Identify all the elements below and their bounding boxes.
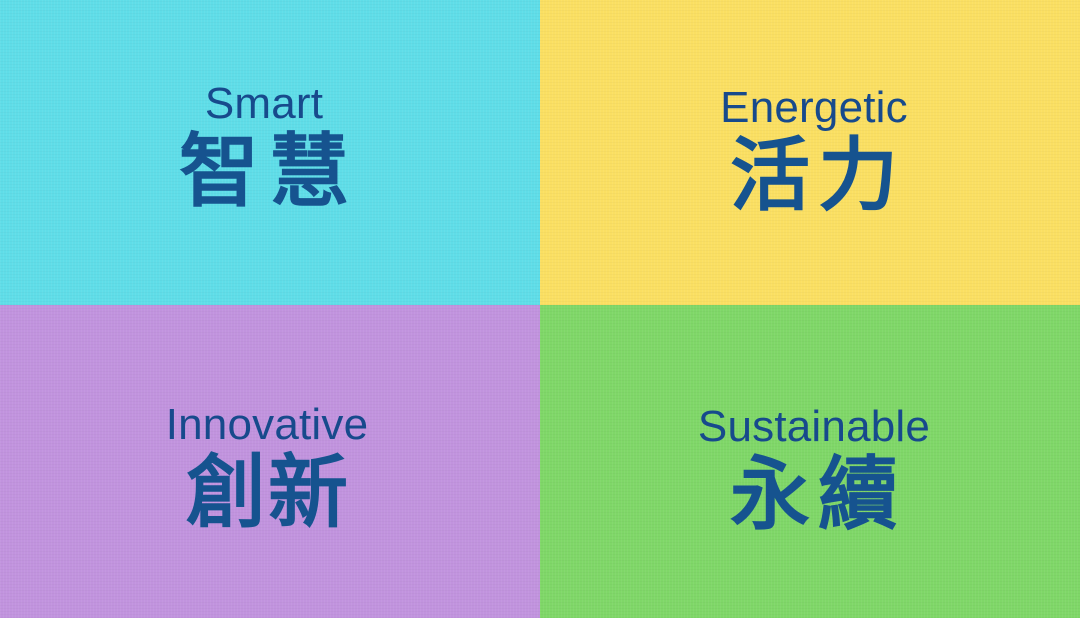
- quadrant-innovative-label-zh: 創新: [166, 453, 369, 533]
- quadrant-energetic-label-zh: 活力: [720, 136, 908, 216]
- quadrant-smart-text: Smart 智慧: [169, 82, 359, 212]
- quadrant-energetic-label-en: Energetic: [720, 86, 908, 130]
- quadrant-sustainable-label-en: Sustainable: [698, 405, 930, 449]
- quadrant-sustainable-label-zh: 永續: [698, 455, 930, 535]
- quadrant-smart-label-zh: 智慧: [169, 132, 359, 212]
- quadrant-sustainable: Sustainable 永續: [540, 305, 1080, 618]
- quadrant-innovative: Innovative 創新: [0, 305, 540, 618]
- quadrant-innovative-text: Innovative 創新: [166, 403, 369, 533]
- value-quadrant-grid: Smart 智慧 Energetic 活力 Innovative 創新 Sust…: [0, 0, 1080, 618]
- quadrant-sustainable-text: Sustainable 永續: [698, 405, 930, 535]
- quadrant-smart: Smart 智慧: [0, 0, 540, 305]
- quadrant-innovative-label-en: Innovative: [166, 403, 369, 447]
- quadrant-energetic-text: Energetic 活力: [720, 86, 908, 216]
- quadrant-energetic: Energetic 活力: [540, 0, 1080, 305]
- quadrant-smart-label-en: Smart: [169, 82, 359, 126]
